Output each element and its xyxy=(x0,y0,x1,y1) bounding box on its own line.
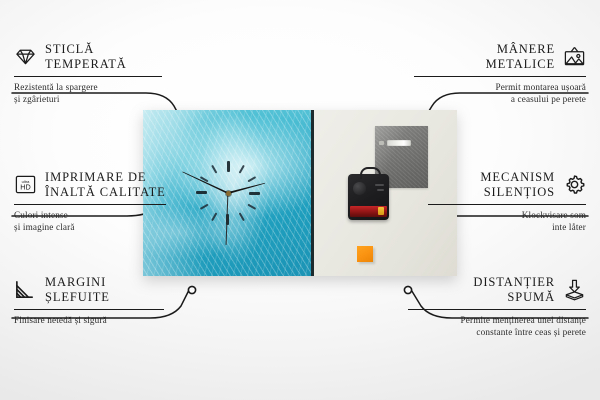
callout-tempered-glass: STICLĂTEMPERATĂ Rezistentă la spargereși… xyxy=(14,42,184,106)
callout-title: MECANISMSILENȚIOS xyxy=(480,170,555,200)
callout-subtitle: Permite menținerea unei distanțeconstant… xyxy=(390,314,586,339)
callout-rule xyxy=(14,76,162,78)
callout-silent-mechanism: MECANISMSILENȚIOS Klockvisare sominte lå… xyxy=(406,170,586,234)
leader-dot-edges xyxy=(188,286,195,293)
callout-title: MÂNEREMETALICE xyxy=(486,42,555,72)
picture-hanger-icon xyxy=(563,45,586,68)
callout-title: STICLĂTEMPERATĂ xyxy=(45,42,127,72)
movement-hanger-loop xyxy=(360,167,381,179)
svg-text:HD: HD xyxy=(20,183,31,192)
gear-icon xyxy=(563,173,586,196)
movement-detail xyxy=(377,189,384,191)
callout-rule xyxy=(428,204,586,206)
movement-detail xyxy=(375,184,384,186)
callout-subtitle: Finisare netedă și sigură xyxy=(14,314,189,326)
callout-subtitle: Rezistentă la spargereși zgârieturi xyxy=(14,81,184,106)
callout-title: MARGINIȘLEFUITE xyxy=(45,275,110,305)
callout-title: DISTANȚIERSPUMĂ xyxy=(473,275,555,305)
callout-subtitle: Culori intenseși imagine clară xyxy=(14,209,194,234)
callout-foam-spacer: DISTANȚIERSPUMĂ Permite menținerea unei … xyxy=(390,275,586,339)
quartz-movement xyxy=(348,174,389,220)
callout-rule xyxy=(14,204,166,206)
infographic-canvas: STICLĂTEMPERATĂ Rezistentă la spargereși… xyxy=(0,0,600,400)
callout-metal-handles: MÂNEREMETALICE Permit montarea ușoarăa c… xyxy=(396,42,586,106)
foam-spacer-icon xyxy=(563,278,586,301)
callout-subtitle: Permit montarea ușoarăa ceasului pe pere… xyxy=(396,81,586,106)
callout-title: IMPRIMARE DEÎNALTĂ CALITATE xyxy=(45,170,166,200)
movement-knob xyxy=(353,182,366,195)
callout-rule xyxy=(408,309,586,311)
diamond-icon xyxy=(14,45,37,68)
hanger-slot xyxy=(387,140,411,146)
ultra-hd-icon: ultra HD xyxy=(14,173,37,196)
callout-rule xyxy=(14,309,164,311)
clock-center-cap xyxy=(226,191,231,196)
foam-spacer xyxy=(357,246,373,262)
callout-polished-edges: MARGINIȘLEFUITE Finisare netedă și sigur… xyxy=(14,275,189,326)
callout-high-quality-print: ultra HD IMPRIMARE DEÎNALTĂ CALITATE Cul… xyxy=(14,170,194,234)
callout-rule xyxy=(414,76,586,78)
callout-subtitle: Klockvisare sominte låter xyxy=(406,209,586,234)
battery-label xyxy=(350,206,387,217)
beveled-edge-icon xyxy=(14,278,37,301)
